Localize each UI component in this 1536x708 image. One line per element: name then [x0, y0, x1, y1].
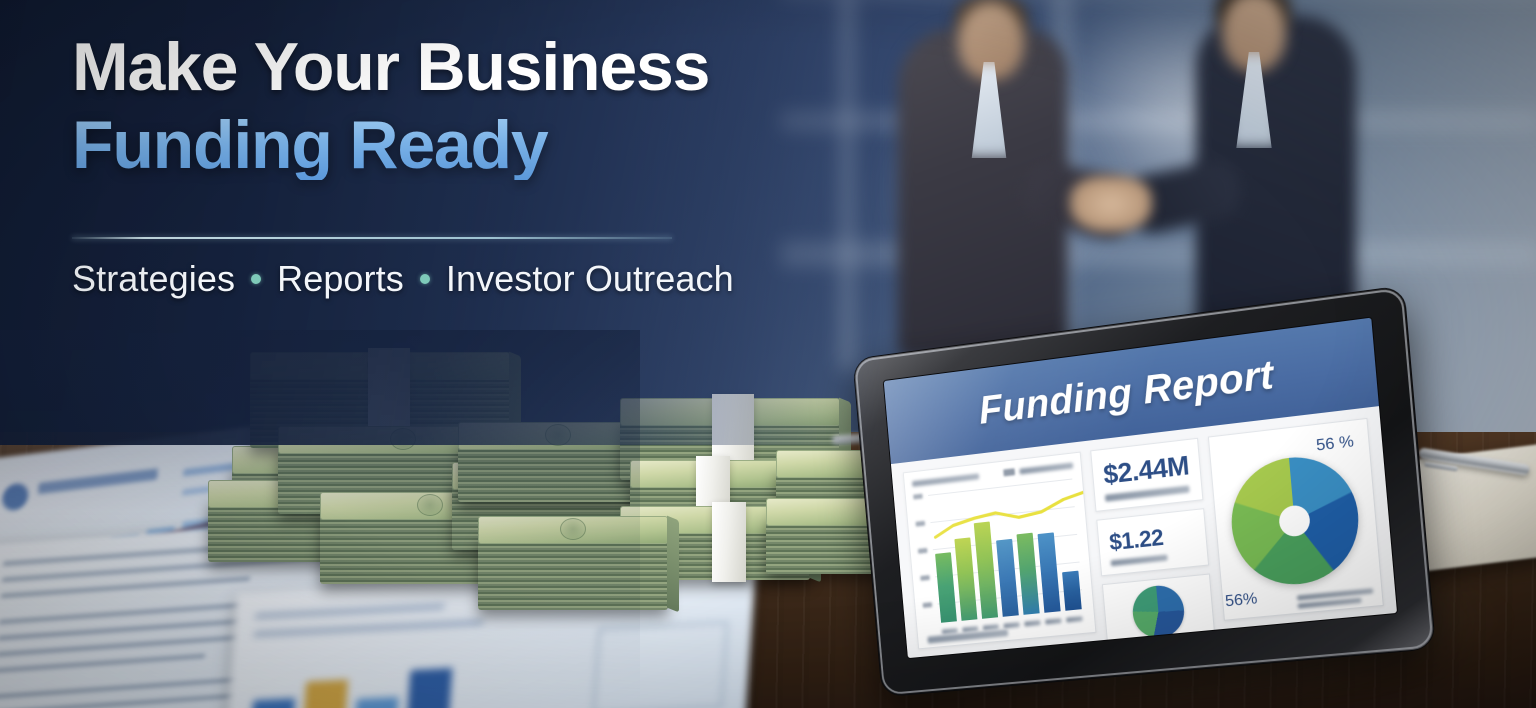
- bullet-separator-icon-1: [251, 274, 261, 284]
- kpi-secondary-sublabel-blurred: [1111, 554, 1168, 566]
- bar-1: [935, 553, 957, 623]
- small-pie-chart: [1131, 583, 1187, 640]
- donut-chart-wrap: 56 % 56%: [1220, 430, 1372, 608]
- hero-banner: Funding Report: [0, 0, 1536, 708]
- kpi-card-secondary[interactable]: $1.22: [1097, 508, 1209, 576]
- bullet-separator-icon-2: [420, 274, 430, 284]
- headline-scrim-lower: [0, 330, 640, 708]
- chart-plot-area: [913, 472, 1086, 624]
- bar-4: [996, 538, 1019, 616]
- kpi-column: $2.44M $1.22: [1091, 438, 1214, 632]
- headline-divider: [72, 237, 672, 239]
- funding-donut-chart: [1227, 450, 1364, 589]
- subtitle-item-strategies: Strategies: [72, 258, 235, 300]
- hero-subtitle: Strategies Reports Investor Outreach: [72, 258, 734, 300]
- kpi-primary-value: $2.44M: [1102, 450, 1190, 491]
- headline-line-1: Make Your Business: [72, 34, 852, 101]
- donut-column: 56 % 56%: [1208, 418, 1384, 621]
- tablet-device[interactable]: Funding Report: [852, 285, 1436, 697]
- funding-bar-chart-card[interactable]: [903, 452, 1097, 650]
- hero-text-block: Make Your Business Funding Ready: [72, 34, 852, 180]
- bar-6: [1038, 532, 1061, 613]
- donut-pct-bottom-left: 56%: [1224, 590, 1258, 611]
- donut-chart-card[interactable]: 56 % 56%: [1208, 418, 1384, 621]
- bar-series: [933, 512, 1082, 623]
- chart-column: [903, 452, 1097, 650]
- bar-7: [1062, 570, 1082, 610]
- kpi-card-primary[interactable]: $2.44M: [1091, 438, 1204, 512]
- bar-5: [1017, 532, 1040, 614]
- bar-3: [974, 521, 998, 618]
- bar-2: [954, 537, 977, 621]
- report-title: Funding Report: [977, 352, 1275, 433]
- subtitle-item-investor-outreach: Investor Outreach: [446, 258, 734, 300]
- subtitle-item-reports: Reports: [277, 258, 404, 300]
- headline-line-2: Funding Ready: [72, 111, 852, 180]
- kpi-secondary-value: $1.22: [1108, 520, 1196, 556]
- legend-swatch-icon: [1004, 468, 1016, 476]
- donut-pct-top-right: 56 %: [1316, 433, 1355, 456]
- handshake-icon: [1070, 176, 1152, 232]
